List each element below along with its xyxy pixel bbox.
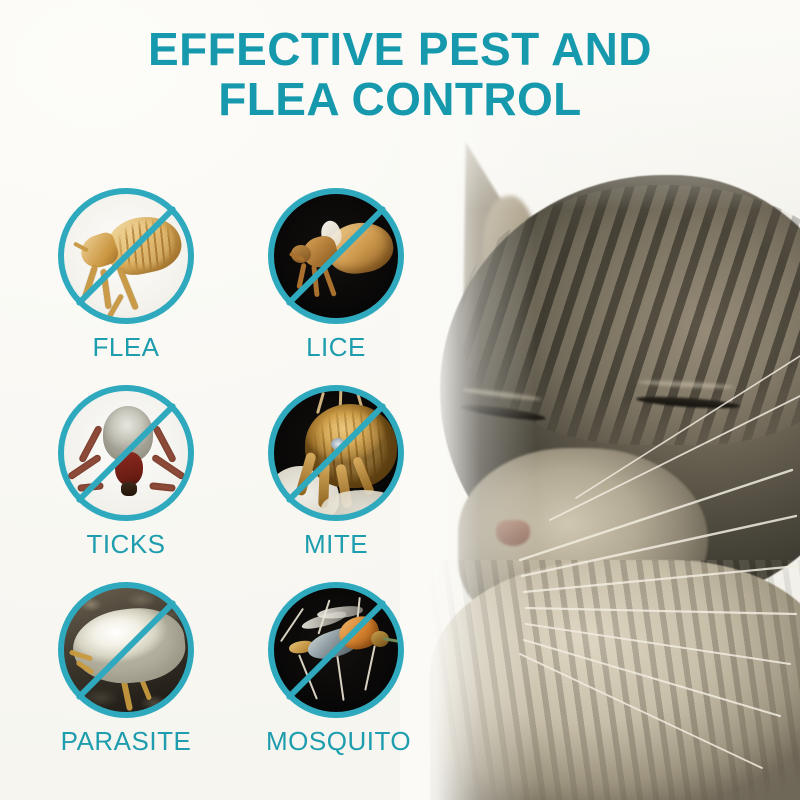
no-flea-icon[interactable] xyxy=(58,188,194,324)
no-mite-icon[interactable] xyxy=(268,385,404,521)
title-line-1: EFFECTIVE PEST AND xyxy=(0,24,800,74)
pest-label: PARASITE xyxy=(56,726,196,757)
no-mosquito-icon[interactable] xyxy=(268,582,404,718)
pest-label: MITE xyxy=(266,529,406,560)
pest-item-parasite[interactable]: PARASITE xyxy=(56,582,196,757)
pest-row: PARASITE MOSQU xyxy=(56,582,446,757)
title-line-2: FLEA CONTROL xyxy=(0,74,800,124)
no-ticks-icon[interactable] xyxy=(58,385,194,521)
pest-item-ticks[interactable]: TICKS xyxy=(56,385,196,560)
pest-label: LICE xyxy=(266,332,406,363)
pest-row: TICKS xyxy=(56,385,446,560)
pest-item-lice[interactable]: LICE xyxy=(266,188,406,363)
pest-control-poster: EFFECTIVE PEST AND FLEA CONTROL xyxy=(0,0,800,800)
no-lice-icon[interactable] xyxy=(268,188,404,324)
pest-item-mite[interactable]: MITE xyxy=(266,385,406,560)
pest-label: TICKS xyxy=(56,529,196,560)
pest-row: FLEA LICE xyxy=(56,188,446,363)
pest-item-flea[interactable]: FLEA xyxy=(56,188,196,363)
page-title: EFFECTIVE PEST AND FLEA CONTROL xyxy=(0,24,800,124)
pest-item-mosquito[interactable]: MOSQUITO xyxy=(266,582,406,757)
no-parasite-icon[interactable] xyxy=(58,582,194,718)
pest-label: MOSQUITO xyxy=(266,726,406,757)
pest-label: FLEA xyxy=(56,332,196,363)
pest-grid: FLEA LICE xyxy=(56,188,446,779)
